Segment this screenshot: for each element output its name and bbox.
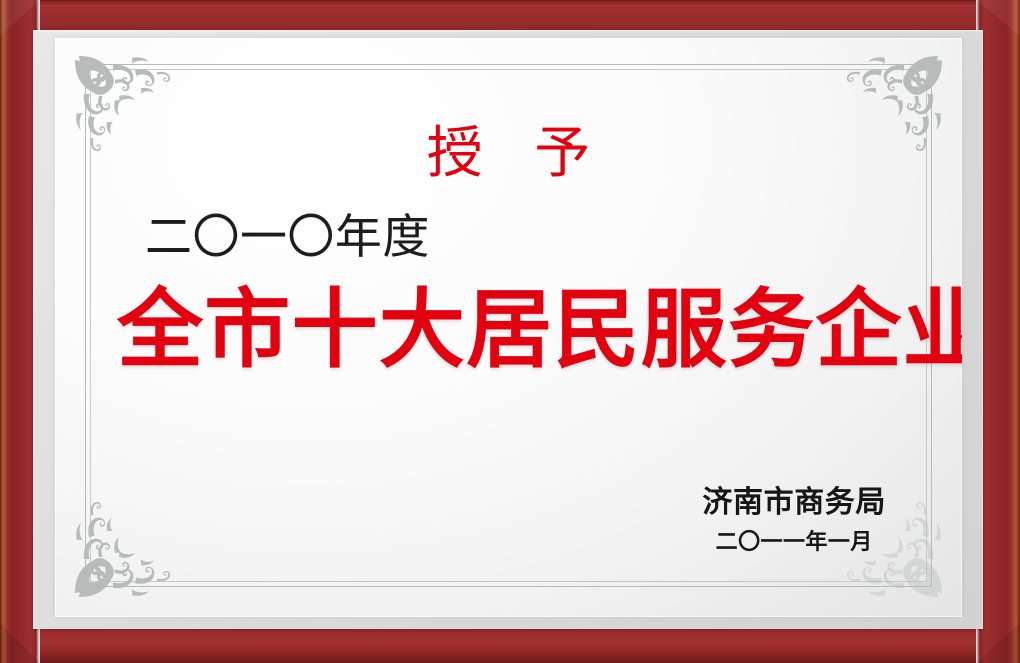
award-plaque: 授 予 二〇一〇年度 全市十大居民服务企业 济南市商务局 二〇一一年一月 <box>0 0 1020 663</box>
frame-miter-bottom-right <box>976 623 1020 663</box>
award-year: 二〇一〇年度 <box>145 214 900 261</box>
issue-date: 二〇一一年一月 <box>702 531 886 555</box>
certificate-content: 授 予 二〇一〇年度 全市十大居民服务企业 济南市商务局 二〇一一年一月 <box>55 38 962 617</box>
frame-miter-bottom-left <box>0 623 40 663</box>
issuing-authority: 济南市商务局 <box>702 487 886 519</box>
frame-bottom-rail <box>0 623 1020 663</box>
award-verb: 授 予 <box>117 126 900 182</box>
issuer-signature-block: 济南市商务局 二〇一一年一月 <box>702 487 886 555</box>
honor-title: 全市十大居民服务企业 <box>117 287 900 373</box>
certificate-panel: 授 予 二〇一〇年度 全市十大居民服务企业 济南市商务局 二〇一一年一月 <box>55 38 962 617</box>
